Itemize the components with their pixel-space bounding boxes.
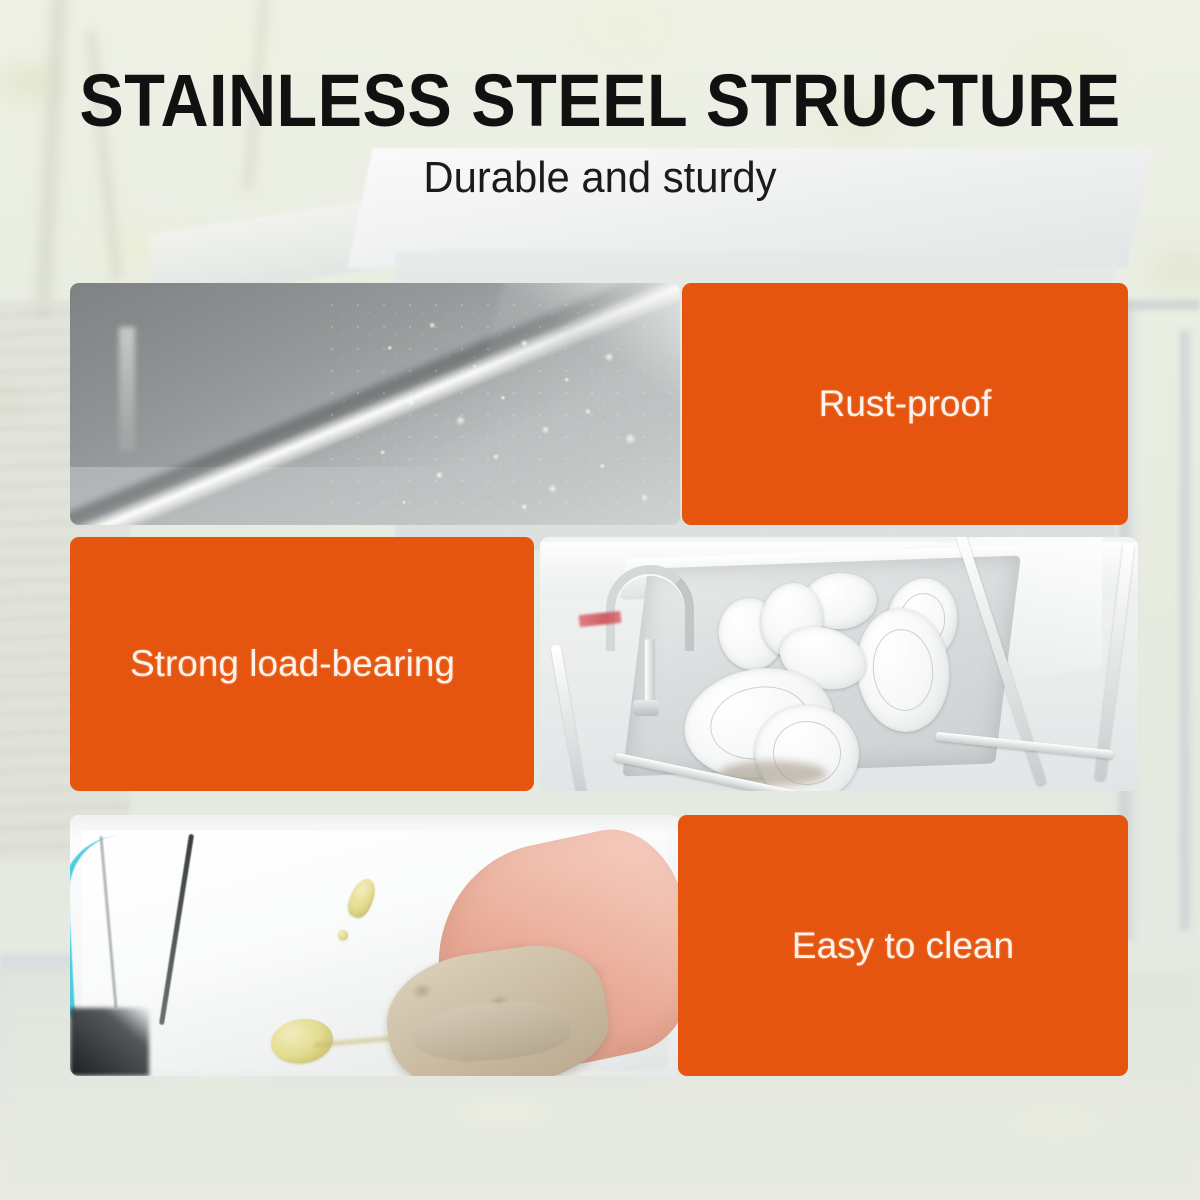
feature-photo-easy-to-clean	[70, 815, 680, 1076]
feature-label-panel-strong-load-bearing: Strong load-bearing	[70, 537, 534, 791]
feature-label-panel-easy-to-clean: Easy to clean	[678, 815, 1128, 1076]
background-post	[1178, 330, 1194, 930]
steel-streak	[119, 327, 135, 453]
feature-photo-strong-load-bearing	[540, 537, 1138, 791]
feature-label-easy-to-clean: Easy to clean	[792, 924, 1014, 968]
faucet-base	[633, 700, 659, 716]
page-title: STAINLESS STEEL STRUCTURE	[60, 62, 1140, 140]
feature-photo-rust-proof	[70, 283, 680, 525]
water-droplets	[326, 298, 680, 525]
basin-corner-shadow	[70, 1008, 149, 1076]
page-subtitle: Durable and sturdy	[30, 152, 1170, 204]
feature-label-panel-rust-proof: Rust-proof	[682, 283, 1128, 525]
feature-label-rust-proof: Rust-proof	[819, 382, 992, 426]
infographic-canvas: STAINLESS STEEL STRUCTURE Durable and st…	[0, 0, 1200, 1200]
feature-label-strong-load-bearing: Strong load-bearing	[130, 642, 455, 686]
